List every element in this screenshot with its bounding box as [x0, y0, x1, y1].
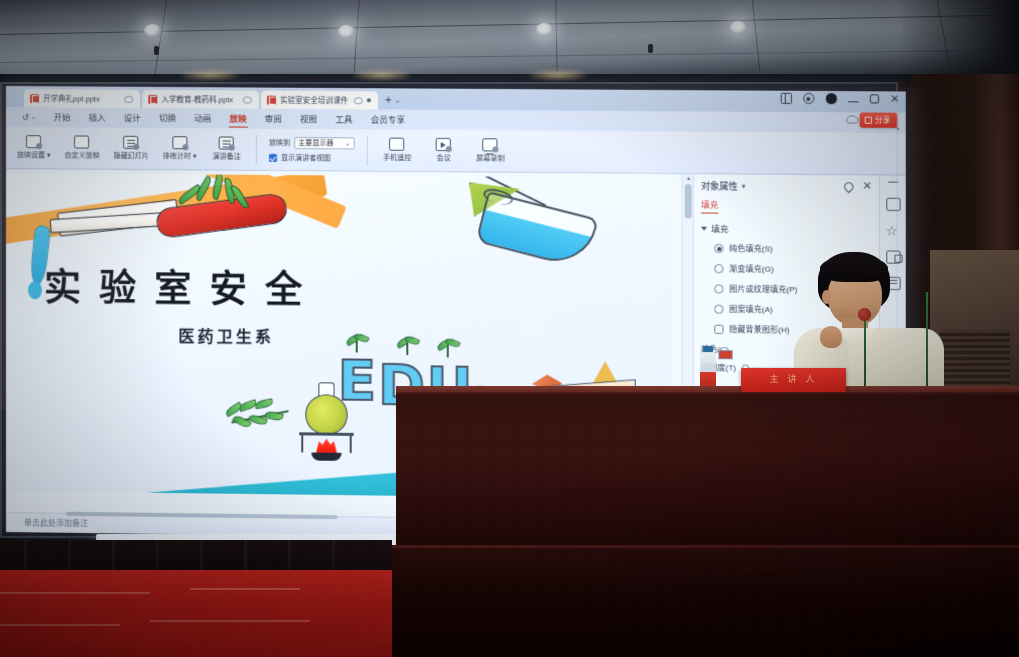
ribbon-button-label: 手机遥控 [383, 153, 411, 163]
ribbon-button-label: 排练计时 ▾ [163, 151, 197, 161]
radio-icon[interactable] [714, 264, 723, 273]
record-icon[interactable] [803, 93, 814, 104]
panel-actions[interactable]: ✕ [844, 182, 872, 191]
collapse-icon[interactable] [888, 182, 898, 183]
radio-icon[interactable] [714, 305, 723, 314]
menu-item-transition[interactable]: 切换 [150, 110, 185, 126]
hand [820, 326, 842, 348]
maximize-button[interactable] [870, 94, 879, 103]
menu-more-caret-icon[interactable]: ⌄ [31, 113, 37, 121]
ribbon-button-label: 放映设置 ▾ [17, 150, 50, 160]
menu-item-view[interactable]: 视图 [291, 111, 326, 127]
fill-option-label: 渐变填充(G) [729, 263, 774, 275]
stage-front [380, 548, 1019, 657]
close-icon[interactable]: ✕ [862, 182, 871, 191]
chevron-down-icon[interactable]: ▾ [742, 182, 746, 190]
ribbon-button-slideshow-settings[interactable]: 放映设置 ▾ [10, 135, 57, 160]
document-tab-label: 实验室安全培训课件 [280, 94, 350, 105]
meeting-icon [436, 138, 451, 151]
close-button[interactable]: ✕ [890, 94, 899, 104]
carpet-marking [0, 592, 150, 594]
red-carpet [0, 570, 392, 657]
hide-slide-icon [124, 136, 139, 149]
fill-section-label: 填充 [711, 223, 728, 235]
menu-item-design[interactable]: 设计 [115, 110, 150, 126]
water-drop-art [28, 281, 42, 299]
ribbon-button-label: 自定义放映 [65, 150, 100, 160]
name-plate: 主 讲 人 [741, 368, 846, 392]
share-icon [865, 117, 872, 124]
ribbon-button-custom-show[interactable]: 自定义放映 [57, 135, 106, 160]
display-target-row[interactable]: 放映到 主要显示器 ⌄ [269, 136, 355, 149]
ribbon-button-screen-record[interactable]: 屏幕录制 [467, 138, 514, 164]
wall-downlight [352, 70, 412, 80]
menu-item-slideshow[interactable]: 放映 [220, 110, 255, 126]
carpet-marking [190, 588, 300, 590]
menu-nav-group[interactable]: ↺ ⌄ [22, 113, 37, 122]
ribbon-toolbar[interactable]: 放映设置 ▾ 自定义放映 隐藏幻灯片 排练计时 ▾ 演讲备注 [6, 127, 906, 176]
scroll-up-arrow-icon[interactable]: ▲ [686, 176, 692, 182]
microphone-head [858, 308, 871, 321]
menu-item-review[interactable]: 审阅 [256, 111, 291, 127]
fill-section-header[interactable]: 填充 [701, 223, 872, 237]
ribbon-button-label: 屏幕录制 [476, 153, 504, 163]
carpet-marking [150, 620, 310, 622]
stand-leg [350, 435, 352, 453]
radio-icon[interactable] [714, 244, 723, 253]
flask-burner-art [295, 382, 358, 449]
ribbon-group-slideshow[interactable]: 放映设置 ▾ 自定义放映 隐藏幻灯片 排练计时 ▾ 演讲备注 [10, 127, 250, 170]
lecture-hall-scene: 开学典礼ppt.pptx 入学教育-教药科.pptx 实验室安全培训课件 + ⌄ [0, 0, 1019, 657]
ceiling-sensor [154, 46, 159, 55]
cloud-sync-icon [124, 95, 133, 102]
cloud-sync-icon [354, 97, 363, 104]
menu-item-animation[interactable]: 动画 [185, 110, 220, 126]
ribbon-divider [367, 135, 368, 165]
chevron-down-icon: ⌄ [345, 139, 351, 147]
beaker-body [475, 191, 598, 270]
notes-placeholder: 单击此处添加备注 [24, 518, 88, 528]
ppt-file-icon [148, 94, 157, 103]
ribbon-group-display[interactable]: 放映到 主要显示器 ⌄ 显示演讲者视图 [263, 136, 361, 163]
fill-option-label: 图片或纹理填充(P) [729, 283, 797, 295]
display-target-select[interactable]: 主要显示器 ⌄ [294, 136, 355, 148]
ceiling-light [338, 25, 355, 38]
ear [822, 290, 831, 304]
ribbon-button-hide-slide[interactable]: 隐藏幻灯片 [107, 136, 156, 161]
menu-item-tools[interactable]: 工具 [326, 111, 361, 127]
ribbon-button-rehearse-timing[interactable]: 排练计时 ▾ [156, 136, 204, 161]
ribbon-divider [256, 134, 257, 164]
window-controls[interactable]: ✕ [780, 93, 899, 105]
stand-top [299, 432, 354, 436]
name-plate-text: 主 讲 人 [741, 368, 846, 392]
fill-option-label: 隐藏背景图形(H) [729, 324, 789, 336]
seedling-art [396, 337, 418, 355]
fern-branch-art [225, 401, 296, 436]
document-tab[interactable]: 开学典礼ppt.pptx [24, 89, 140, 108]
ribbon-group-tools[interactable]: 手机遥控 会议 屏幕录制 [374, 129, 514, 171]
display-target-label: 放映到 [269, 137, 290, 147]
ribbon-button-phone-remote[interactable]: 手机遥控 [374, 138, 421, 163]
pin-icon[interactable] [842, 180, 855, 193]
panel-tab-fill[interactable]: 填充 [701, 198, 718, 213]
custom-show-icon [75, 135, 90, 148]
radio-icon[interactable] [714, 285, 723, 294]
ribbon-button-label: 会议 [437, 153, 451, 163]
display-target-value: 主要显示器 [298, 138, 333, 148]
green-leaves-art [176, 180, 246, 207]
rehearse-timing-icon [172, 136, 187, 149]
ppt-file-icon [267, 95, 276, 104]
ceiling-light [730, 21, 747, 34]
flask-bulb [305, 394, 347, 435]
split-view-icon[interactable] [780, 93, 791, 104]
document-tab[interactable]: 入学教育-教药科.pptx [142, 90, 259, 109]
document-tab-active[interactable]: 实验室安全培训课件 [261, 91, 378, 110]
scrollbar-thumb[interactable] [685, 184, 692, 218]
menu-item-insert[interactable]: 插入 [80, 109, 115, 125]
seedling-art [437, 339, 459, 357]
checkbox-icon[interactable] [714, 325, 723, 334]
panel-header: 对象属性 ▾ ✕ [701, 179, 872, 193]
cloud-icon[interactable] [846, 115, 858, 123]
new-tab-button[interactable]: + ⌄ [385, 94, 400, 106]
wall-downlight [528, 70, 588, 80]
ribbon-button-label: 演讲备注 [213, 151, 241, 161]
hair-fringe [820, 256, 888, 282]
beaker-art [474, 177, 608, 275]
presenter-view-row[interactable]: 显示演讲者视图 [269, 152, 355, 163]
menu-item-start[interactable]: 开始 [45, 109, 80, 125]
stand-leg [301, 434, 303, 452]
share-button-label: 分享 [875, 115, 890, 126]
avatar[interactable] [826, 93, 837, 104]
wall-vent [940, 330, 1010, 392]
panel-title-text: 对象属性 [701, 179, 738, 192]
share-button[interactable]: 分享 [860, 112, 898, 127]
ceiling-right-shadow [899, 0, 1019, 80]
ceiling-light [536, 23, 553, 36]
cloud-sync-icon [243, 96, 252, 103]
ribbon-button-label: 隐藏幻灯片 [114, 151, 149, 161]
ribbon-button-speaker-notes[interactable]: 演讲备注 [203, 136, 249, 161]
undo-icon[interactable]: ↺ [22, 113, 29, 122]
ribbon-button-meeting[interactable]: 会议 [420, 138, 467, 163]
burner-art [311, 453, 341, 461]
shape-format-icon[interactable] [886, 198, 900, 211]
desk-shadow [396, 392, 1019, 452]
ppt-file-icon [30, 94, 39, 103]
new-tab-caret-icon: ⌄ [395, 96, 401, 104]
phone-remote-icon [390, 138, 405, 151]
presenter-view-label: 显示演讲者视图 [281, 152, 330, 162]
slide-subtitle[interactable]: 医药卫生系 [178, 323, 274, 348]
presenter-view-checkbox[interactable] [269, 153, 277, 161]
new-tab-plus-label: + [385, 94, 392, 106]
slideshow-settings-icon [26, 135, 41, 148]
star-icon[interactable]: ☆ [886, 224, 900, 237]
menu-item-member[interactable]: 会员专享 [362, 111, 415, 127]
slide-title[interactable]: 实验室安全 [44, 257, 320, 314]
chevron-down-icon [701, 227, 707, 231]
ceiling-light [144, 24, 161, 37]
ceiling-sensor [648, 44, 653, 53]
panel-title: 对象属性 ▾ [701, 179, 745, 192]
ceiling [0, 0, 1019, 80]
screen-record-icon [483, 138, 498, 151]
color-swatch[interactable] [718, 350, 732, 359]
minimize-button[interactable] [848, 101, 858, 102]
wall-downlight [180, 70, 240, 80]
seedling-art [346, 334, 368, 352]
unsaved-dot [367, 98, 371, 102]
fill-option-label: 纯色填充(S) [729, 243, 773, 254]
fill-option-label: 图案填充(A) [729, 304, 773, 316]
document-tab-label: 开学典礼ppt.pptx [43, 93, 120, 104]
speaker-notes-icon [219, 136, 234, 149]
carpet-marking [0, 624, 120, 626]
document-tab-label: 入学教育-教药科.pptx [161, 93, 238, 105]
